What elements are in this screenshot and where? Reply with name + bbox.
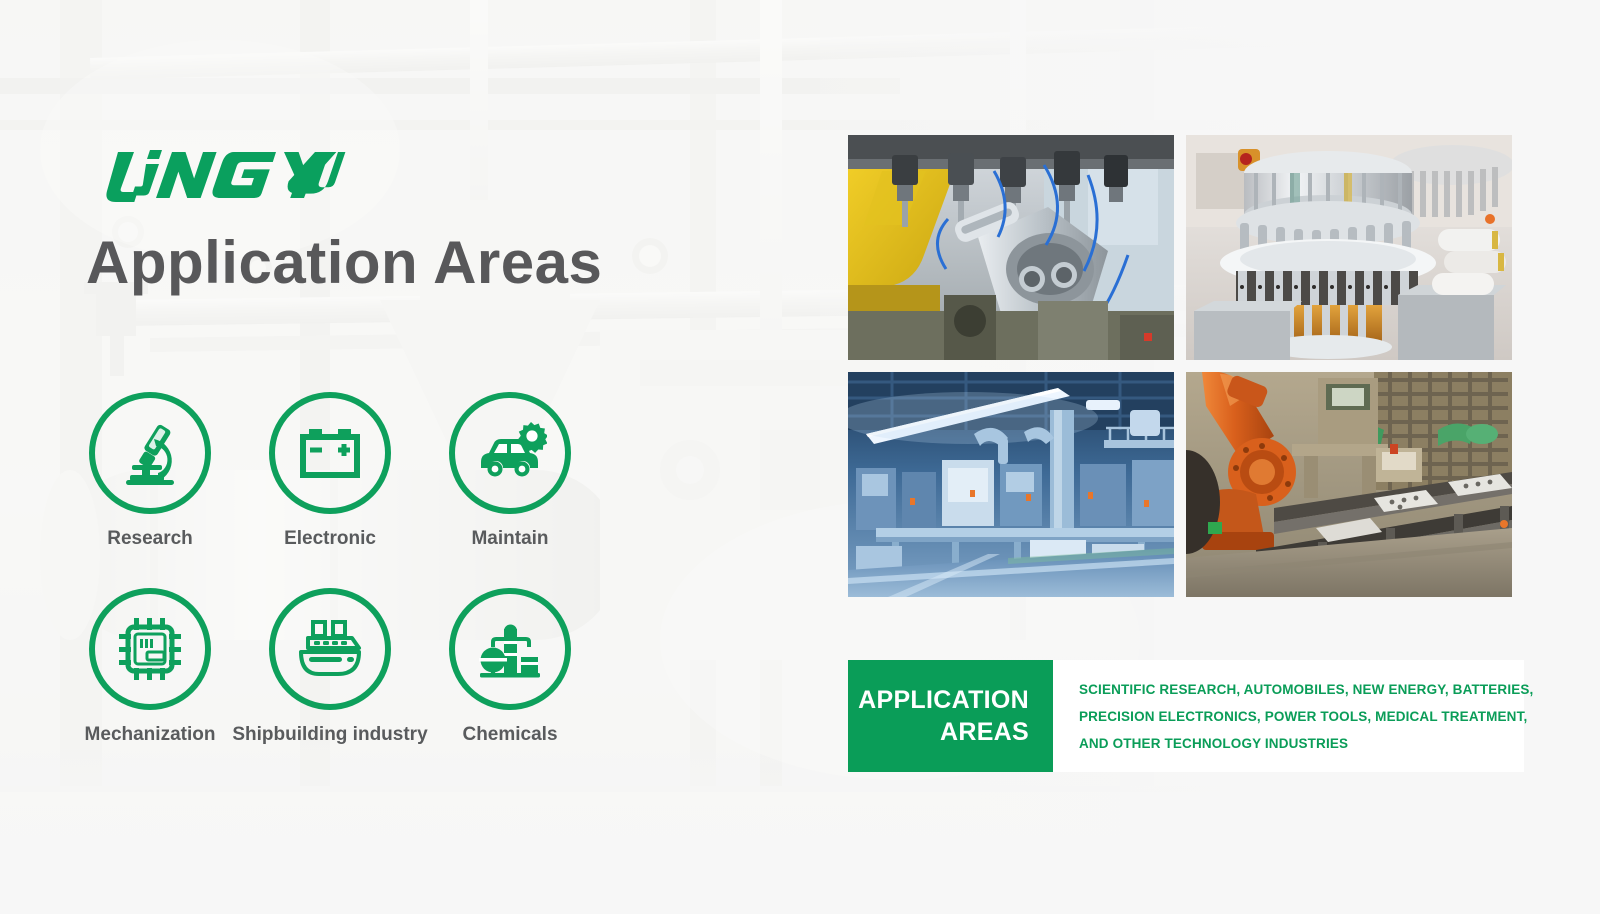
mechanization-circle [89, 588, 211, 710]
photo-factory-floor[interactable] [848, 372, 1174, 597]
photo-robot-arm-image [1186, 372, 1512, 597]
banner-text: SCIENTIFIC RESEARCH, AUTOMOBILES, NEW EN… [1053, 660, 1533, 772]
icon-label-electronic: Electronic [284, 528, 376, 550]
icon-cell-chemicals[interactable]: Chemicals [420, 588, 600, 784]
banner-text-line3: AND OTHER TECHNOLOGY INDUSTRIES [1079, 730, 1533, 757]
photo-cnc-assembly-image [848, 135, 1174, 360]
photo-factory-floor-image [848, 372, 1174, 597]
lingyu-logo-icon [88, 148, 360, 204]
research-circle [89, 392, 211, 514]
microchip-icon [114, 613, 186, 685]
right-content-column: APPLICATION AREAS SCIENTIFIC RESEARCH, A… [848, 0, 1600, 914]
banner-text-line2: PRECISION ELECTRONICS, POWER TOOLS, MEDI… [1079, 703, 1533, 730]
battery-icon [294, 417, 366, 489]
photo-ampoule-filling[interactable] [1186, 135, 1512, 360]
icon-cell-research[interactable]: Research [60, 392, 240, 588]
photo-ampoule-filling-image [1186, 135, 1512, 360]
icon-cell-electronic[interactable]: Electronic [240, 392, 420, 588]
photo-robot-arm[interactable] [1186, 372, 1512, 597]
icon-cell-mechanization[interactable]: Mechanization [60, 588, 240, 784]
electronic-circle [269, 392, 391, 514]
banner-badge-line2: AREAS [940, 716, 1029, 748]
application-photo-grid [848, 135, 1524, 608]
shipbuilding-circle [269, 588, 391, 710]
banner-text-line1: SCIENTIFIC RESEARCH, AUTOMOBILES, NEW EN… [1079, 676, 1533, 703]
icon-cell-maintain[interactable]: Maintain [420, 392, 600, 588]
microscope-icon [114, 417, 186, 489]
page-title: Application Areas [86, 228, 602, 297]
brand-logo-wrap [88, 148, 360, 204]
icon-label-mechanization: Mechanization [85, 724, 216, 746]
icon-label-chemicals: Chemicals [462, 724, 557, 746]
banner-badge-line1: APPLICATION [858, 684, 1029, 716]
icon-label-maintain: Maintain [471, 528, 548, 550]
icon-label-research: Research [107, 528, 193, 550]
chemicals-circle [449, 588, 571, 710]
icon-cell-shipbuilding[interactable]: Shipbuilding industry [240, 588, 420, 784]
application-icon-grid: Research Electronic [60, 392, 620, 784]
icon-label-shipbuilding: Shipbuilding industry [232, 724, 427, 746]
photo-cnc-assembly[interactable] [848, 135, 1174, 360]
chemical-plant-icon [474, 613, 546, 685]
left-content-column: Application Areas Research [0, 0, 830, 914]
banner-badge: APPLICATION AREAS [848, 660, 1053, 772]
ship-icon [293, 612, 367, 686]
maintain-circle [449, 392, 571, 514]
application-areas-banner: APPLICATION AREAS SCIENTIFIC RESEARCH, A… [848, 660, 1524, 772]
car-gear-icon [473, 416, 547, 490]
